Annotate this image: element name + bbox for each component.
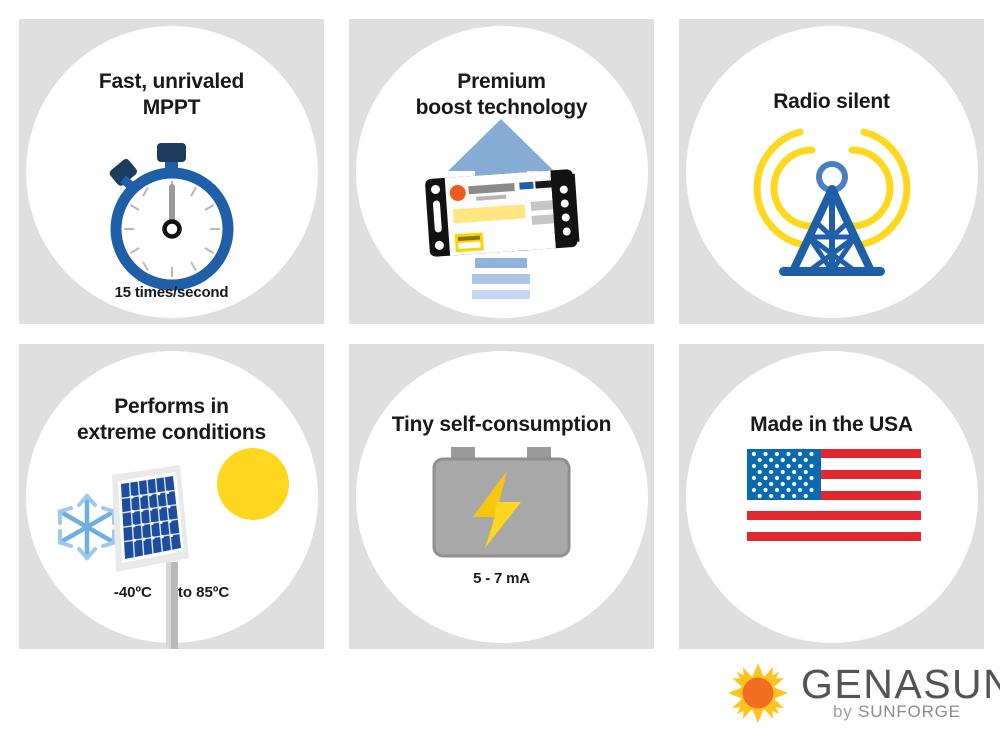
logo-tagline-by: by [833,702,858,721]
temp-low: -40ºC [114,584,152,601]
usa-flag-icon [679,344,984,649]
panel-made-in-usa: Made in the USA [679,344,984,649]
panel-caption: 5 - 7 mA [349,570,654,587]
brand-logo: GENASUN by SUNFORGE [723,663,963,725]
panel-fast-mppt: Fast, unrivaled MPPT [19,19,324,324]
panel-boost-technology: Premium boost technology [349,19,654,324]
panel-caption: 15 times/second [19,284,324,301]
stopwatch-icon [19,19,324,324]
temperature-range: -40ºC to 85ºC [19,584,324,601]
radio-tower-icon [679,19,984,324]
sun-icon [723,663,793,725]
panel-radio-silent: Radio silent [679,19,984,324]
up-arrow-with-charge-controller-icon [349,19,654,324]
solar-panel-icon [19,344,324,649]
logo-tagline: by SUNFORGE [833,702,961,722]
logo-wordmark: GENASUN [801,661,1000,708]
panel-tiny-self-consumption: Tiny self-consumption 5 - 7 mA [349,344,654,649]
battery-icon [349,344,654,649]
logo-tagline-name: SUNFORGE [858,702,961,721]
feature-grid: Fast, unrivaled MPPT [19,19,983,649]
temp-high: to 85ºC [178,584,229,601]
panel-extreme-conditions: Performs in extreme conditions [19,344,324,649]
